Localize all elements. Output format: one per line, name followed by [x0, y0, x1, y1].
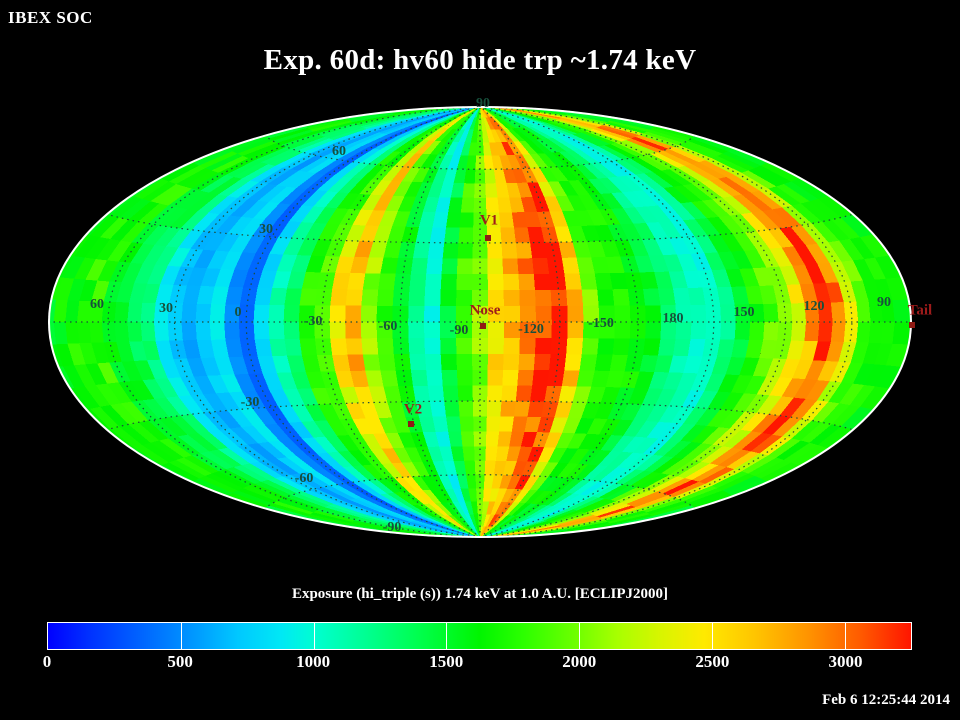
map-annotation-overlay: 60300-30-60-90-120-15018015012090906030-… — [0, 0, 960, 720]
colorbar-tick-label: 2500 — [695, 652, 729, 672]
colorbar-tick — [579, 623, 580, 649]
timestamp: Feb 6 12:25:44 2014 — [822, 692, 950, 709]
latitude-label: 60 — [332, 144, 346, 160]
longitude-label: 60 — [90, 297, 104, 313]
colorbar-tick-label: 1500 — [429, 652, 463, 672]
colorbar-tick — [845, 623, 846, 649]
colorbar-tick-label: 500 — [167, 652, 193, 672]
latitude-label: 90 — [476, 96, 490, 112]
longitude-label: -90 — [450, 323, 469, 339]
marker-dot-tail — [909, 322, 915, 328]
longitude-label: -150 — [588, 316, 614, 332]
marker-dot-v1 — [485, 235, 491, 241]
latitude-label: -60 — [295, 471, 314, 487]
latitude-label: -90 — [383, 520, 402, 536]
marker-label-v2: V2 — [404, 402, 422, 419]
colorbar-tick-labels: 050010001500200025003000 — [0, 652, 960, 678]
colorbar-tick — [446, 623, 447, 649]
longitude-label: -30 — [304, 314, 323, 330]
colorbar-tick — [712, 623, 713, 649]
longitude-label: 90 — [877, 295, 891, 311]
longitude-label: 150 — [734, 305, 755, 321]
latitude-label: -30 — [241, 395, 260, 411]
marker-dot-nose — [480, 323, 486, 329]
longitude-label: 0 — [235, 305, 242, 321]
marker-dot-v2 — [408, 421, 414, 427]
longitude-label: -120 — [518, 322, 544, 338]
marker-label-v1: V1 — [480, 213, 498, 230]
latitude-label: 30 — [259, 222, 273, 238]
colorbar-tick — [181, 623, 182, 649]
colorbar-tick-label: 0 — [43, 652, 52, 672]
colorbar-tick-label: 3000 — [828, 652, 862, 672]
longitude-label: 120 — [804, 299, 825, 315]
colorbar-tick — [314, 623, 315, 649]
colorbar-tick-label: 2000 — [562, 652, 596, 672]
marker-label-tail: Tail — [908, 303, 932, 320]
longitude-label: 180 — [663, 311, 684, 327]
colorbar-caption: Exposure (hi_triple (s)) 1.74 keV at 1.0… — [0, 586, 960, 603]
longitude-label: -60 — [379, 319, 398, 335]
plot-canvas: IBEX SOC Exp. 60d: hv60 hide trp ~1.74 k… — [0, 0, 960, 720]
marker-label-nose: Nose — [470, 303, 501, 320]
longitude-label: 30 — [159, 301, 173, 317]
colorbar-tick-label: 1000 — [296, 652, 330, 672]
colorbar[interactable] — [47, 622, 912, 650]
